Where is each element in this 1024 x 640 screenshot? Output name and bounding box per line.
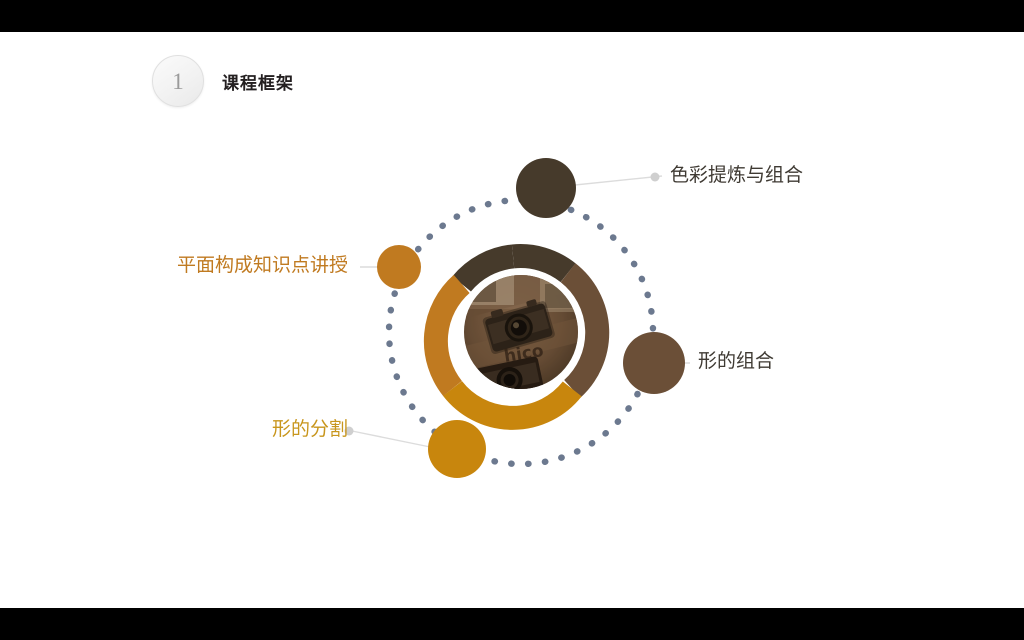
- radial-hub-diagram: hico: [0, 32, 1024, 608]
- node-circle-color-combo[interactable]: [516, 158, 576, 218]
- node-circle-shape-combo[interactable]: [623, 332, 685, 394]
- label-shape-combo[interactable]: 形的组合: [698, 352, 774, 371]
- letterbox-top: [0, 0, 1024, 32]
- slide-stage: 1 课程框架: [0, 0, 1024, 640]
- letterbox-bottom: [0, 608, 1024, 640]
- presentation-slide: 1 课程框架: [0, 32, 1024, 608]
- label-shape-split[interactable]: 形的分割: [272, 420, 348, 439]
- label-color-combo[interactable]: 色彩提炼与组合: [670, 166, 803, 185]
- connector-line-shape-split: [352, 431, 440, 449]
- node-circle-shape-split[interactable]: [428, 420, 486, 478]
- node-circle-plane[interactable]: [377, 245, 421, 289]
- connector-dot-color-combo: [651, 173, 660, 182]
- label-plane-composition[interactable]: 平面构成知识点讲授: [177, 256, 348, 275]
